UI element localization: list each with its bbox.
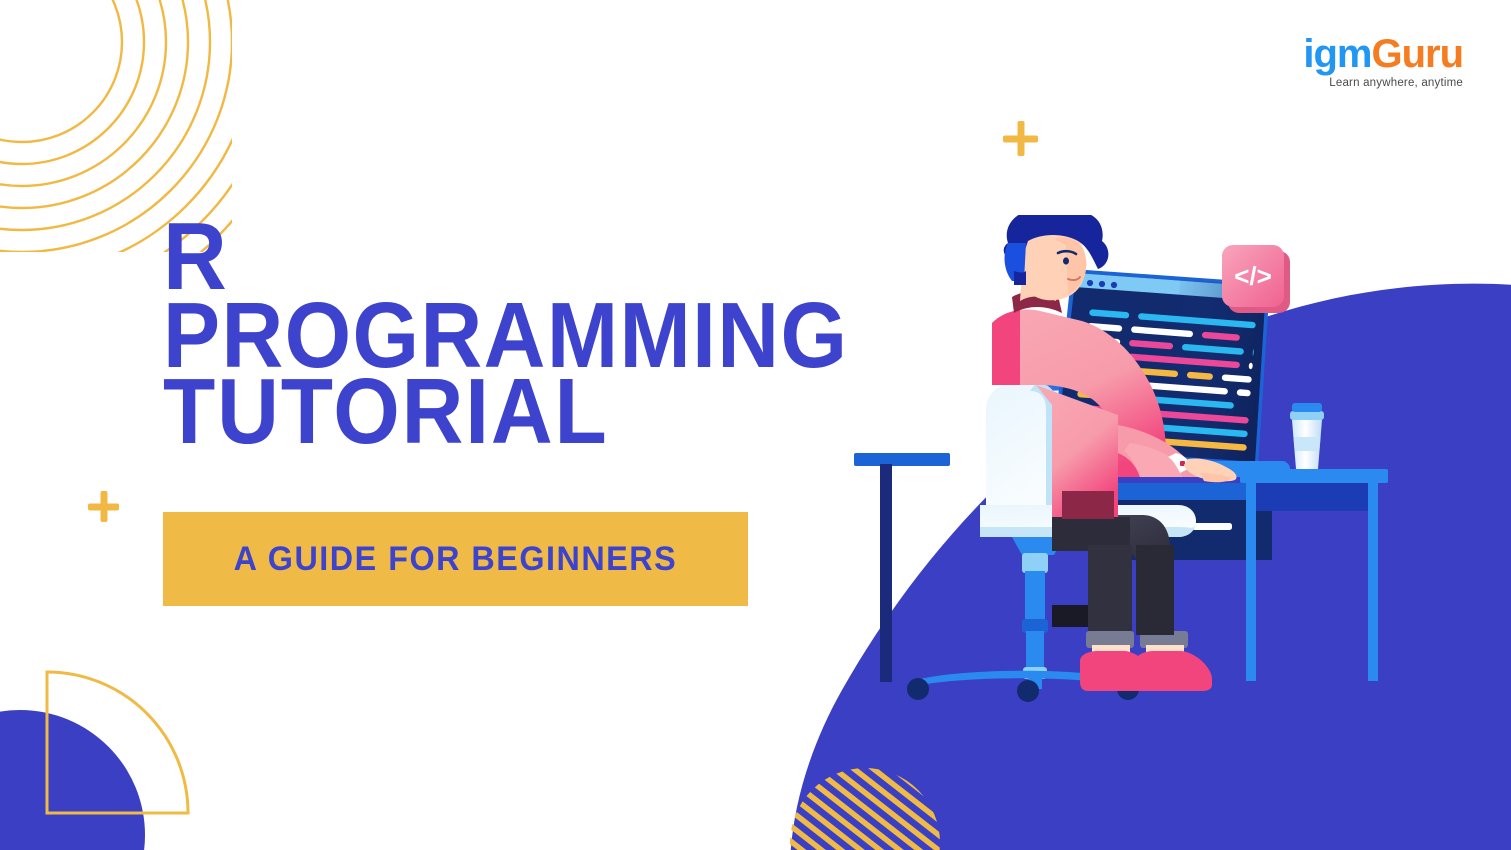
logo-wordmark: igmGuru bbox=[1303, 34, 1463, 74]
yellow-ring-decoration bbox=[1396, 258, 1511, 498]
code-badge-symbol: </> bbox=[1234, 261, 1272, 291]
coffee-cup bbox=[1290, 403, 1324, 469]
striped-circle-decoration bbox=[790, 768, 940, 850]
logo-tagline: Learn anywhere, anytime bbox=[1303, 77, 1463, 89]
plus-mark-icon bbox=[1003, 121, 1038, 156]
igmguru-logo[interactable]: igmGuru Learn anywhere, anytime bbox=[1303, 34, 1463, 89]
plus-mark-icon bbox=[88, 491, 119, 522]
logo-word-guru: Guru bbox=[1371, 32, 1463, 76]
coder-illustration: </> bbox=[840, 215, 1400, 735]
banner-canvas: igmGuru Learn anywhere, anytime R PROGRA… bbox=[0, 0, 1511, 850]
subtitle-banner: A GUIDE FOR BEGINNERS bbox=[163, 512, 748, 606]
quarter-arc-decoration bbox=[45, 670, 190, 815]
blue-circle-decoration bbox=[0, 710, 145, 850]
logo-word-igm: igm bbox=[1303, 32, 1371, 76]
headline-block: R PROGRAMMING TUTORIAL bbox=[163, 218, 908, 449]
left-desk bbox=[854, 453, 950, 682]
headline-line-3: TUTORIAL bbox=[163, 373, 848, 449]
code-badge-icon: </> bbox=[1222, 245, 1290, 313]
code-line-segment bbox=[1237, 389, 1251, 396]
subtitle-text: A GUIDE FOR BEGINNERS bbox=[234, 540, 677, 579]
